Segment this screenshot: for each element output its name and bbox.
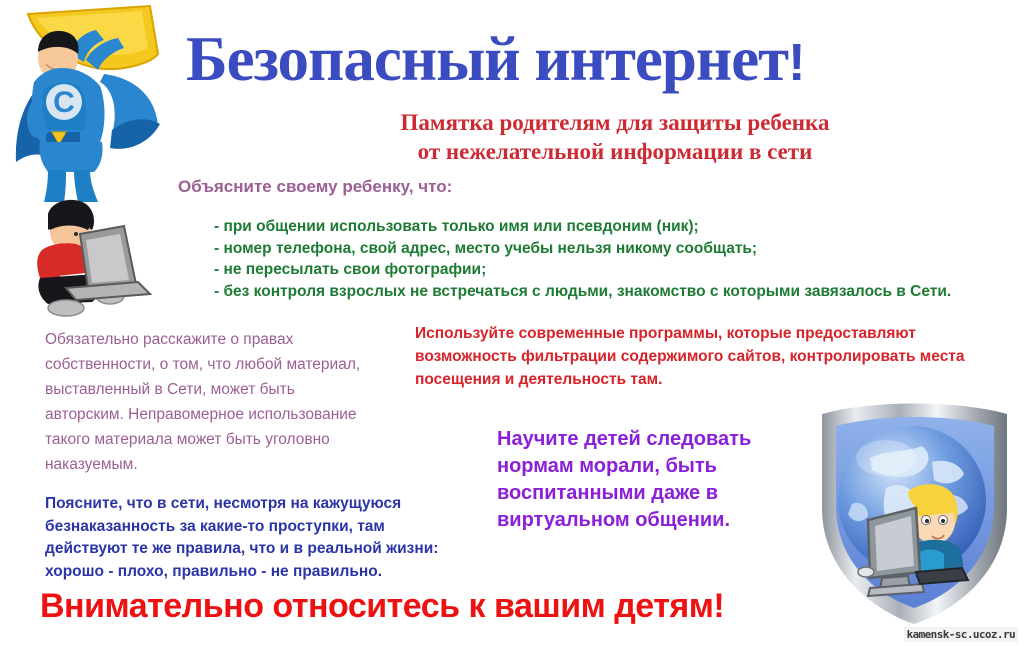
paragraph-online-rules: Поясните, что в сети, несмотря на кажущу… — [45, 493, 465, 583]
poster-canvas: C — [0, 0, 1024, 646]
safety-rules-list: - при общении использовать только имя ил… — [214, 216, 1014, 302]
paragraph-filtering-programs: Используйте современные программы, котор… — [415, 322, 1015, 391]
list-item: - при общении использовать только имя ил… — [214, 216, 1014, 238]
boy-with-laptop-illustration — [18, 196, 183, 322]
shield-globe-illustration — [812, 396, 1017, 628]
paragraph-copyright-rights: Обязательно расскажите о правах собствен… — [45, 327, 375, 477]
footer-headline: Внимательно относитесь к вашим детям! — [40, 586, 724, 626]
poster-subtitle-line2: от нежелательной информации в сети — [270, 137, 960, 166]
list-item: - номер телефона, свой адрес, место учеб… — [214, 238, 1014, 260]
superhero-illustration: C — [0, 2, 180, 202]
poster-subtitle: Памятка родителям для защиты ребенка от … — [270, 108, 960, 166]
poster-subtitle-line1: Памятка родителям для защиты ребенка — [270, 108, 960, 137]
list-item: - не пересылать свои фотографии; — [214, 259, 1014, 281]
poster-title-exclamation: ! — [788, 34, 804, 92]
poster-title-text: Безопасный интернет — [186, 24, 788, 94]
paragraph-moral-norms: Научите детей следовать нормам морали, б… — [497, 426, 797, 534]
list-item: - без контроля взрослых не встречаться с… — [214, 281, 1014, 303]
poster-title: Безопасный интернет! — [186, 26, 986, 96]
intro-line: Объясните своему ребенку, что: — [178, 177, 452, 197]
site-watermark: kamensk-sc.ucoz.ru — [904, 627, 1018, 642]
hero-chest-emblem: C — [53, 86, 75, 119]
